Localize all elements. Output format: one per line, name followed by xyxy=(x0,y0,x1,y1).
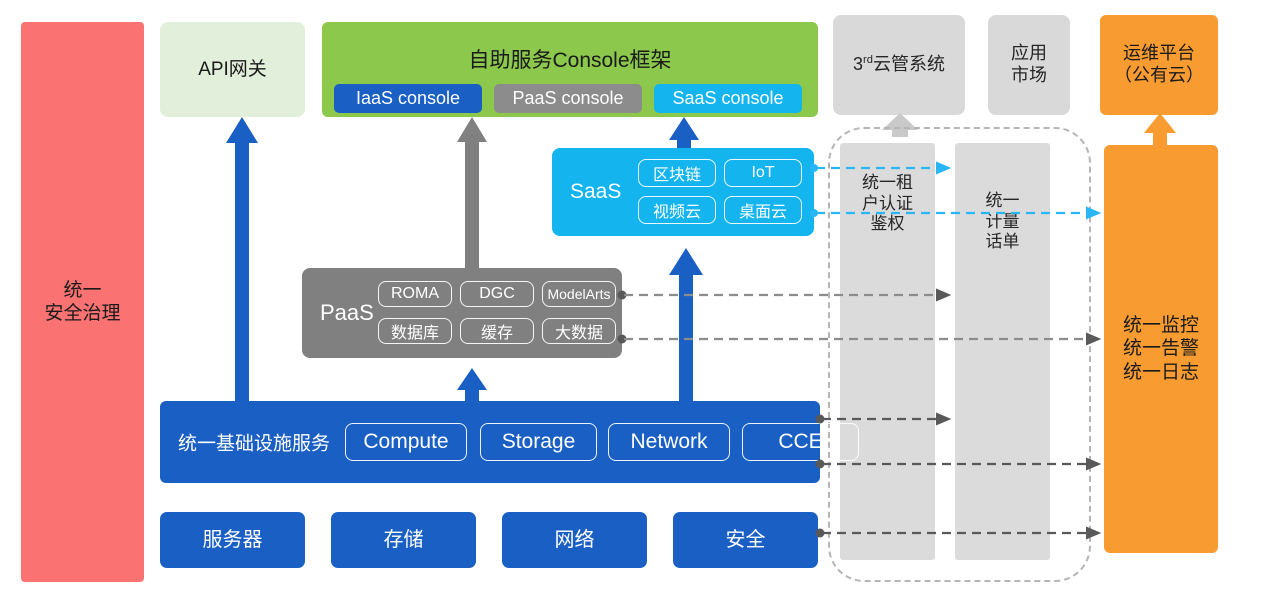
saas-item-desktop-cloud[interactable]: 桌面云 xyxy=(724,196,802,224)
arrow-infra-to-paas xyxy=(455,368,489,402)
arrow-paas-to-console xyxy=(455,117,489,270)
paas-item-roma[interactable]: ROMA xyxy=(378,281,452,307)
paas-block: PaaS ROMA DGC ModelArts 数据库 缓存 大数据 xyxy=(302,268,622,358)
app-market-label: 应用 市场 xyxy=(1011,43,1047,87)
saas-item-video-cloud[interactable]: 视频云 xyxy=(638,196,716,224)
unified-infrastructure-service-bar: 统一基础设施服务 Compute Storage Network CCE xyxy=(160,401,820,483)
saas-block-label: SaaS xyxy=(570,180,621,204)
unified-metering-billing-label: 统一 计量 话单 xyxy=(986,191,1020,253)
security-governance-panel: 统一 安全治理 xyxy=(21,22,144,582)
unified-tenant-auth-label: 统一租 户认证 鉴权 xyxy=(862,173,913,235)
unified-metering-billing-column: 统一 计量 话单 xyxy=(955,143,1050,560)
paas-console-label: PaaS console xyxy=(512,88,623,109)
unified-tenant-auth-column: 统一租 户认证 鉴权 xyxy=(840,143,935,560)
saas-item-iot[interactable]: IoT xyxy=(724,159,802,187)
paas-block-label: PaaS xyxy=(320,300,374,326)
paas-item-bigdata[interactable]: 大数据 xyxy=(542,318,616,344)
infra-item-network[interactable]: Network xyxy=(608,423,730,461)
iaas-console-label: IaaS console xyxy=(356,88,460,109)
api-gateway-label: API网关 xyxy=(198,58,267,81)
saas-block: SaaS 区块链 IoT 视频云 桌面云 xyxy=(552,148,814,236)
arrow-ops-side-to-ops-top xyxy=(1142,113,1178,145)
ops-platform-public-cloud-box: 运维平台 （公有云） xyxy=(1100,15,1218,115)
infra-item-cce[interactable]: CCE xyxy=(742,423,859,461)
third-party-superscript: rd xyxy=(863,54,873,66)
arrow-infra-to-apigw xyxy=(224,117,260,407)
paas-console-chip[interactable]: PaaS console xyxy=(494,84,642,113)
unified-monitoring-panel: 统一监控 统一告警 统一日志 xyxy=(1104,145,1218,553)
arrow-saas-to-console xyxy=(667,117,701,150)
infra-item-storage[interactable]: Storage xyxy=(480,423,597,461)
resource-item-storage[interactable]: 存储 xyxy=(331,512,476,568)
paas-item-dgc[interactable]: DGC xyxy=(460,281,534,307)
saas-console-label: SaaS console xyxy=(672,88,783,109)
paas-item-database[interactable]: 数据库 xyxy=(378,318,452,344)
self-service-console-frame: 自助服务Console框架 IaaS console PaaS console … xyxy=(322,22,818,117)
paas-item-modelarts[interactable]: ModelArts xyxy=(542,281,616,307)
saas-console-chip[interactable]: SaaS console xyxy=(654,84,802,113)
saas-item-blockchain[interactable]: 区块链 xyxy=(638,159,716,187)
resource-item-server[interactable]: 服务器 xyxy=(160,512,305,568)
api-gateway-box: API网关 xyxy=(160,22,305,117)
third-party-cloud-mgmt-box: 3rd云管系统 xyxy=(833,15,965,115)
iaas-console-chip[interactable]: IaaS console xyxy=(334,84,482,113)
unified-infrastructure-label: 统一基础设施服务 xyxy=(178,429,330,456)
arrow-infra-to-saas xyxy=(667,248,705,404)
console-frame-title: 自助服务Console框架 xyxy=(322,44,818,74)
paas-item-cache[interactable]: 缓存 xyxy=(460,318,534,344)
infra-item-compute[interactable]: Compute xyxy=(345,423,467,461)
security-governance-label: 统一 安全治理 xyxy=(44,279,120,325)
resource-item-security[interactable]: 安全 xyxy=(673,512,818,568)
architecture-diagram: 统一 安全治理 API网关 自助服务Console框架 IaaS console… xyxy=(0,0,1265,605)
app-market-box: 应用 市场 xyxy=(988,15,1070,115)
resource-item-network[interactable]: 网络 xyxy=(502,512,647,568)
third-party-cloud-mgmt-label: 3rd云管系统 xyxy=(853,54,945,76)
unified-monitoring-label: 统一监控 统一告警 统一日志 xyxy=(1123,314,1199,384)
ops-platform-public-cloud-label: 运维平台 （公有云） xyxy=(1114,43,1204,87)
